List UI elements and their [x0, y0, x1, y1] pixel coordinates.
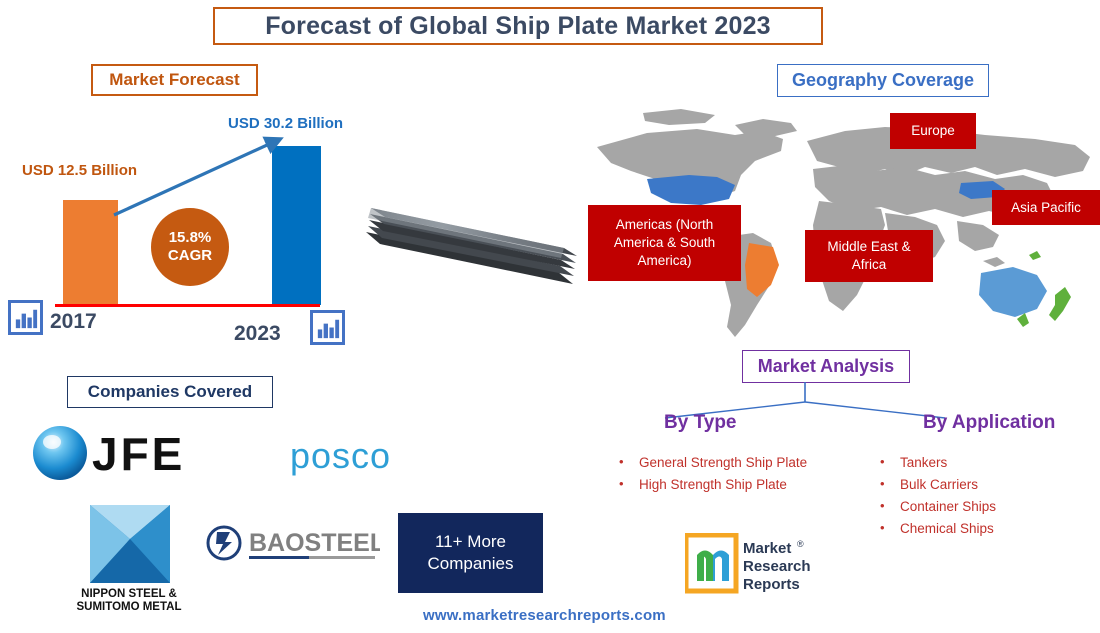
cagr-percent: 15.8% [169, 229, 212, 247]
map-label-middle-east-africa: Middle East & Africa [805, 230, 933, 282]
registered-icon: ® [797, 539, 804, 549]
analysis-heading-by-type: By Type [664, 412, 737, 434]
list-item: Chemical Ships [878, 518, 996, 540]
brand-line-research: Research [743, 558, 811, 575]
brand-line-reports: Reports [743, 576, 800, 593]
logo-baosteel: BAOSTEEL [205, 522, 380, 568]
bar-chart-icon [310, 310, 345, 345]
highlight-new-zealand [1049, 287, 1071, 321]
list-item: Container Ships [878, 496, 996, 518]
more-companies-badge: 11+ More Companies [398, 513, 543, 593]
section-header-geography-coverage: Geography Coverage [777, 64, 989, 97]
map-label-asia-pacific: Asia Pacific [992, 190, 1100, 225]
section-header-market-forecast: Market Forecast [91, 64, 258, 96]
landmass-arctic [643, 109, 715, 125]
growth-arrow-icon [110, 130, 290, 220]
logo-nippon-line2: SUMITOMO METAL [77, 601, 182, 613]
section-header-geography-coverage-label: Geography Coverage [792, 70, 974, 91]
more-companies-line1: 11+ More [435, 531, 506, 553]
list-item: High Strength Ship Plate [617, 474, 807, 496]
landmass-southeast-asia [957, 221, 999, 251]
section-header-market-forecast-label: Market Forecast [109, 70, 239, 90]
ship-plate-stack-image [358, 198, 583, 308]
analysis-list-by-type: General Strength Ship Plate High Strengt… [617, 452, 807, 496]
highlight-pacific-islands [1029, 251, 1041, 260]
logo-nippon-line1: NIPPON STEEL & [81, 588, 177, 600]
analysis-list-by-application: Tankers Bulk Carriers Container Ships Ch… [878, 452, 996, 539]
list-item: General Strength Ship Plate [617, 452, 807, 474]
more-companies-line2: Companies [428, 553, 514, 575]
list-item: Bulk Carriers [878, 474, 996, 496]
cagr-label: CAGR [168, 247, 212, 265]
logo-nippon-steel-sumitomo-metal: NIPPON STEEL & SUMITOMO METAL [62, 505, 197, 615]
logo-baosteel-text: BAOSTEEL [249, 529, 380, 557]
page-title-text: Forecast of Global Ship Plate Market 202… [265, 12, 771, 41]
highlight-united-states [647, 175, 735, 205]
axis-label-2023: 2023 [234, 322, 281, 346]
map-label-europe: Europe [890, 113, 976, 149]
brand-line-market: Market [743, 540, 791, 557]
chart-baseline [55, 304, 320, 307]
section-header-companies-covered-label: Companies Covered [88, 382, 252, 402]
axis-label-2017: 2017 [50, 310, 97, 334]
logo-market-research-reports: Market ® Research Reports [685, 533, 830, 595]
infographic-page: Forecast of Global Ship Plate Market 202… [0, 0, 1100, 633]
highlight-brazil [745, 243, 779, 297]
analysis-heading-by-application: By Application [923, 412, 1055, 434]
logo-posco: posco [290, 435, 430, 477]
market-forecast-bar-chart: USD 12.5 Billion USD 30.2 Billion 15.8% … [0, 110, 360, 360]
highlight-australia [979, 267, 1047, 317]
page-title: Forecast of Global Ship Plate Market 202… [213, 7, 823, 45]
bar-chart-icon [8, 300, 43, 335]
cagr-badge: 15.8% CAGR [151, 208, 229, 286]
section-header-companies-covered: Companies Covered [67, 376, 273, 408]
list-item: Tankers [878, 452, 996, 474]
section-header-market-analysis-label: Market Analysis [758, 356, 894, 377]
website-url[interactable]: www.marketresearchreports.com [423, 607, 666, 624]
logo-posco-text: posco [290, 435, 391, 476]
landmass-papua [983, 257, 1005, 267]
logo-jfe-text: JFE [92, 428, 185, 480]
logo-jfe: JFE [30, 420, 230, 485]
map-label-americas: Americas (North America & South America) [588, 205, 741, 281]
